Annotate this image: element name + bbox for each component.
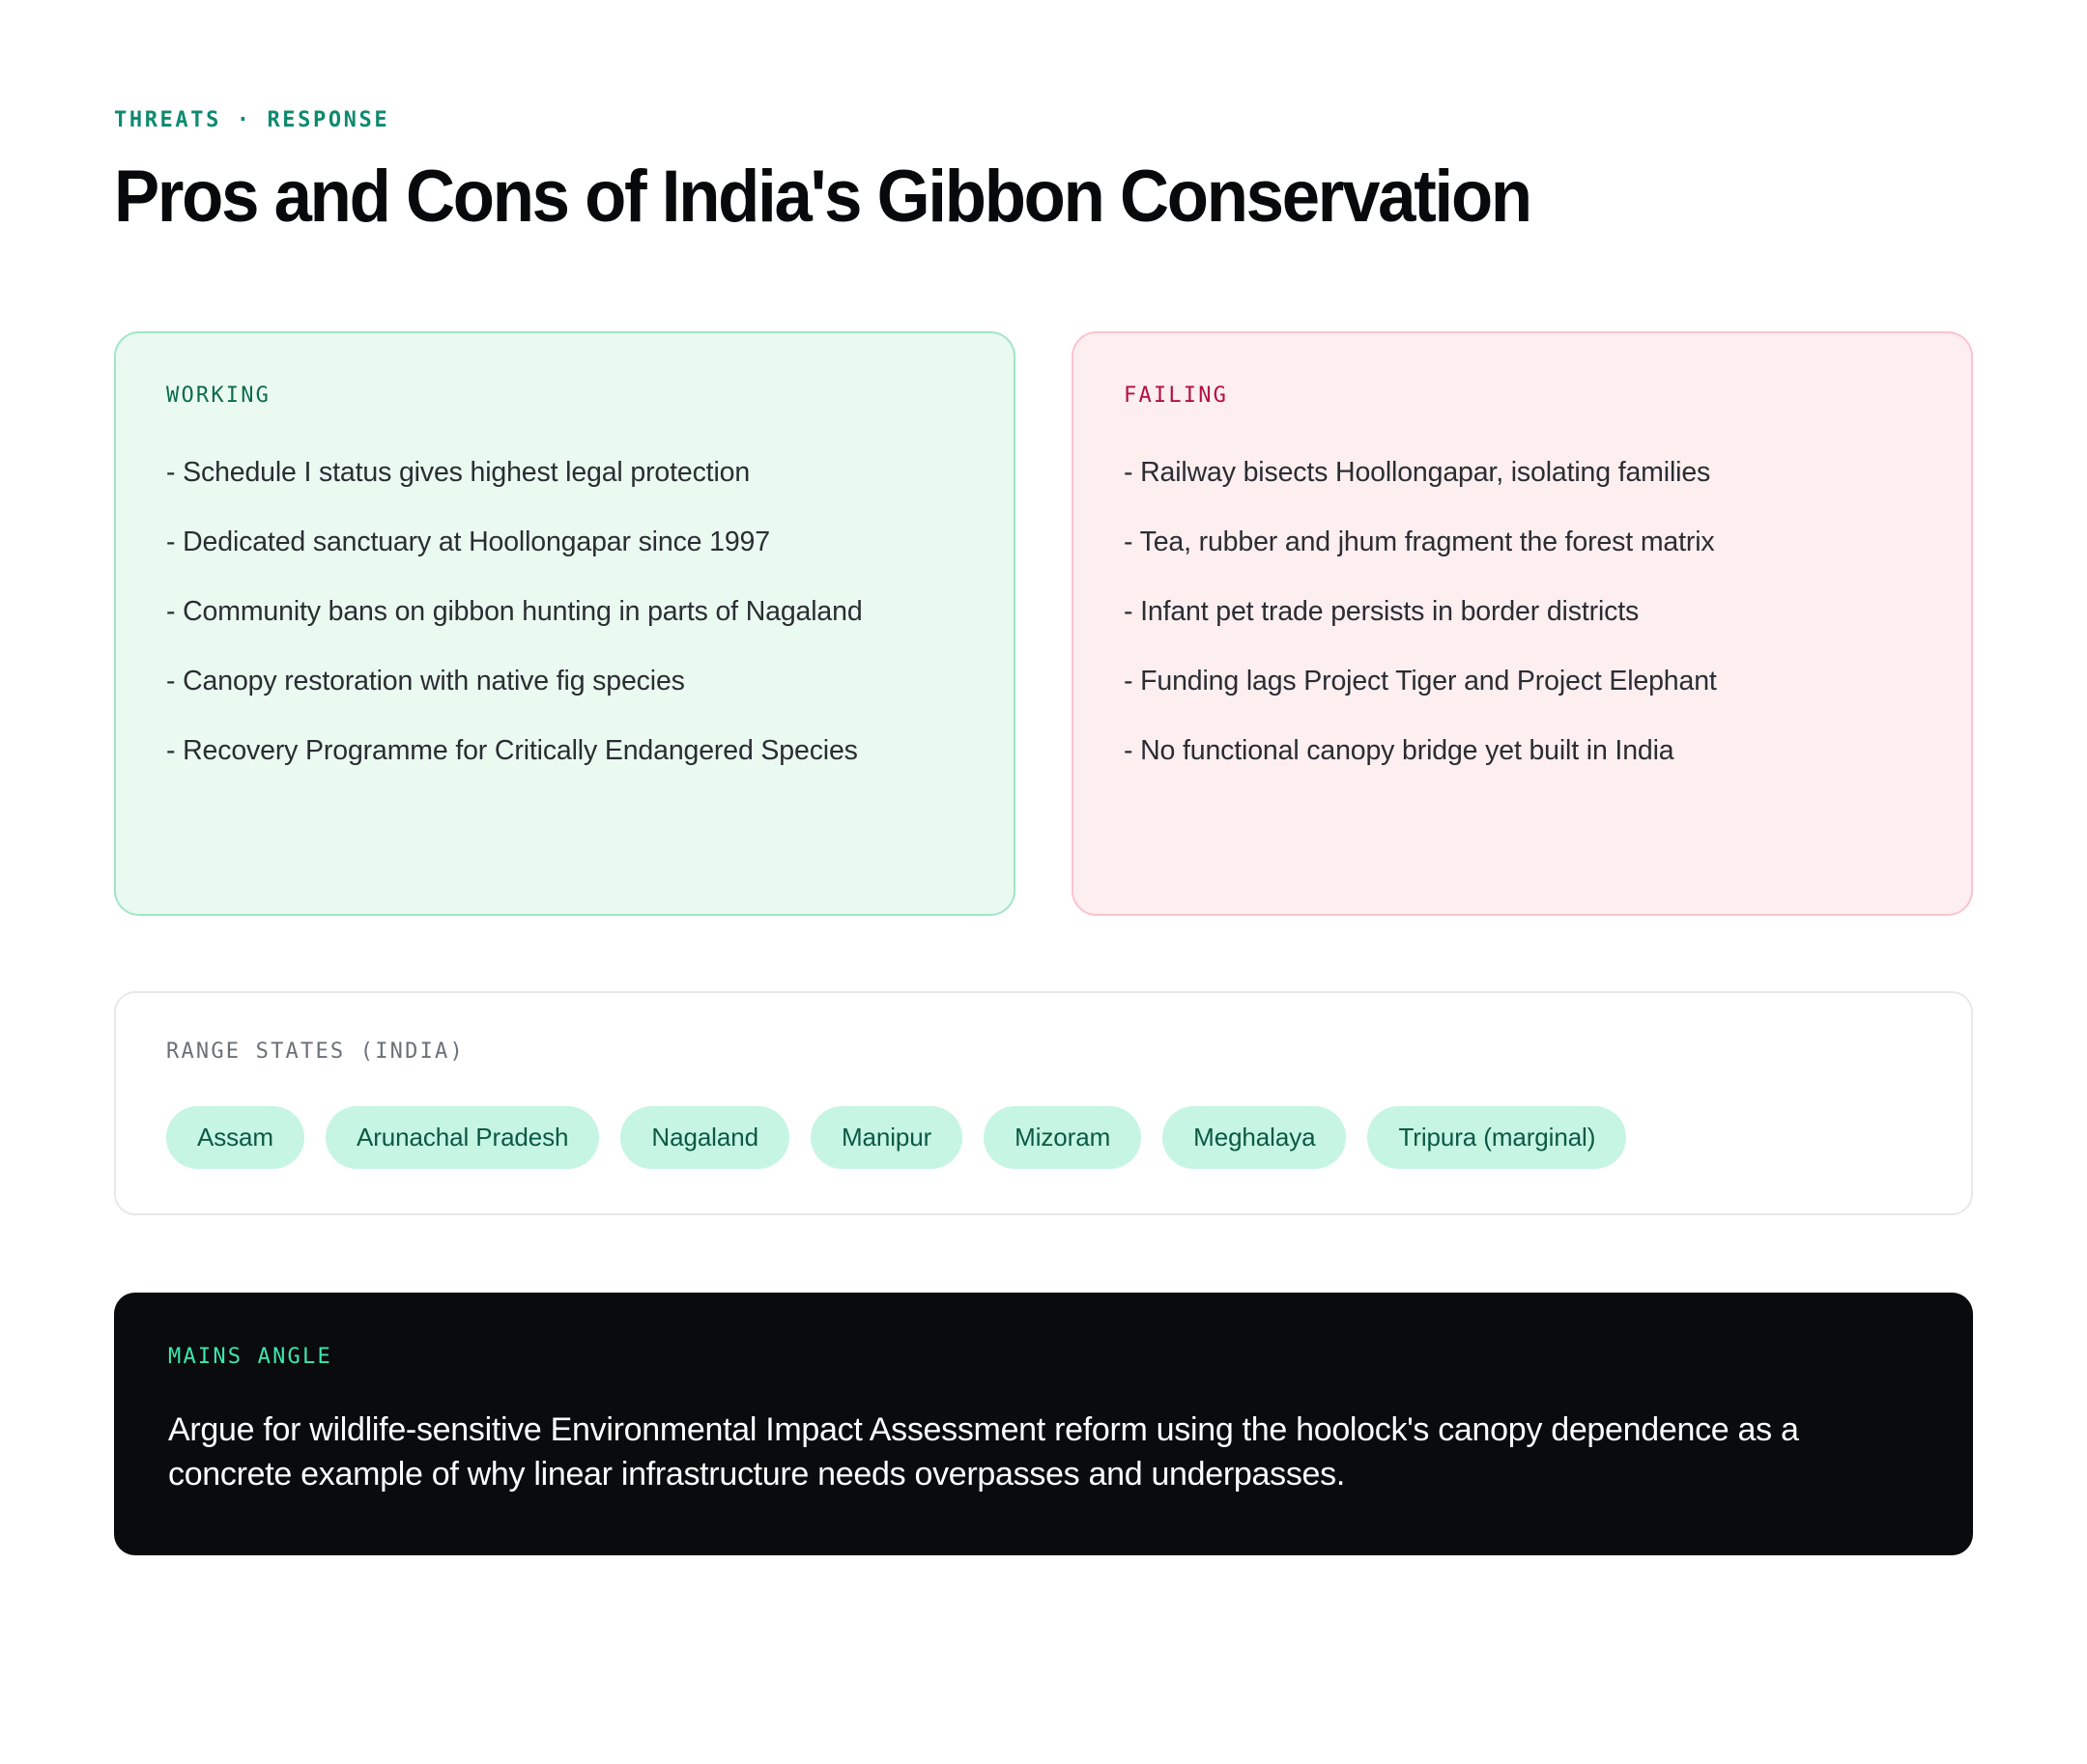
failing-card-label: FAILING	[1124, 384, 1921, 408]
list-item: - Funding lags Project Tiger and Project…	[1124, 661, 1921, 701]
working-card: WORKING - Schedule I status gives highes…	[114, 331, 1015, 916]
mains-angle-panel: MAINS ANGLE Argue for wildlife-sensitive…	[114, 1293, 1973, 1556]
state-chip-assam[interactable]: Assam	[166, 1106, 304, 1169]
list-item: - No functional canopy bridge yet built …	[1124, 730, 1921, 771]
list-item: - Dedicated sanctuary at Hoollongapar si…	[166, 522, 963, 562]
range-states-chip-row: Assam Arunachal Pradesh Nagaland Manipur…	[166, 1106, 1921, 1169]
list-item: - Infant pet trade persists in border di…	[1124, 591, 1921, 632]
list-item: - Tea, rubber and jhum fragment the fore…	[1124, 522, 1921, 562]
state-chip-manipur[interactable]: Manipur	[811, 1106, 962, 1169]
working-list: - Schedule I status gives highest legal …	[166, 452, 963, 772]
state-chip-nagaland[interactable]: Nagaland	[620, 1106, 789, 1169]
state-chip-mizoram[interactable]: Mizoram	[984, 1106, 1141, 1169]
failing-list: - Railway bisects Hoollongapar, isolatin…	[1124, 452, 1921, 772]
pros-cons-row: WORKING - Schedule I status gives highes…	[114, 331, 1973, 916]
page-title: Pros and Cons of India's Gibbon Conserva…	[114, 159, 1843, 235]
list-item: - Recovery Programme for Critically Enda…	[166, 730, 963, 771]
range-states-label: RANGE STATES (INDIA)	[166, 1039, 1921, 1064]
state-chip-arunachal-pradesh[interactable]: Arunachal Pradesh	[326, 1106, 599, 1169]
failing-card: FAILING - Railway bisects Hoollongapar, …	[1072, 331, 1973, 916]
list-item: - Canopy restoration with native fig spe…	[166, 661, 963, 701]
breadcrumb-eyebrow: THREATS · RESPONSE	[114, 108, 1973, 132]
list-item: - Railway bisects Hoollongapar, isolatin…	[1124, 452, 1921, 493]
state-chip-tripura[interactable]: Tripura (marginal)	[1367, 1106, 1626, 1169]
working-card-label: WORKING	[166, 384, 963, 408]
mains-angle-text: Argue for wildlife-sensitive Environment…	[168, 1408, 1917, 1498]
list-item: - Schedule I status gives highest legal …	[166, 452, 963, 493]
range-states-panel: RANGE STATES (INDIA) Assam Arunachal Pra…	[114, 991, 1973, 1215]
page-root: THREATS · RESPONSE Pros and Cons of Indi…	[0, 0, 2087, 1764]
state-chip-meghalaya[interactable]: Meghalaya	[1162, 1106, 1346, 1169]
mains-angle-label: MAINS ANGLE	[168, 1345, 1919, 1369]
list-item: - Community bans on gibbon hunting in pa…	[166, 591, 963, 632]
